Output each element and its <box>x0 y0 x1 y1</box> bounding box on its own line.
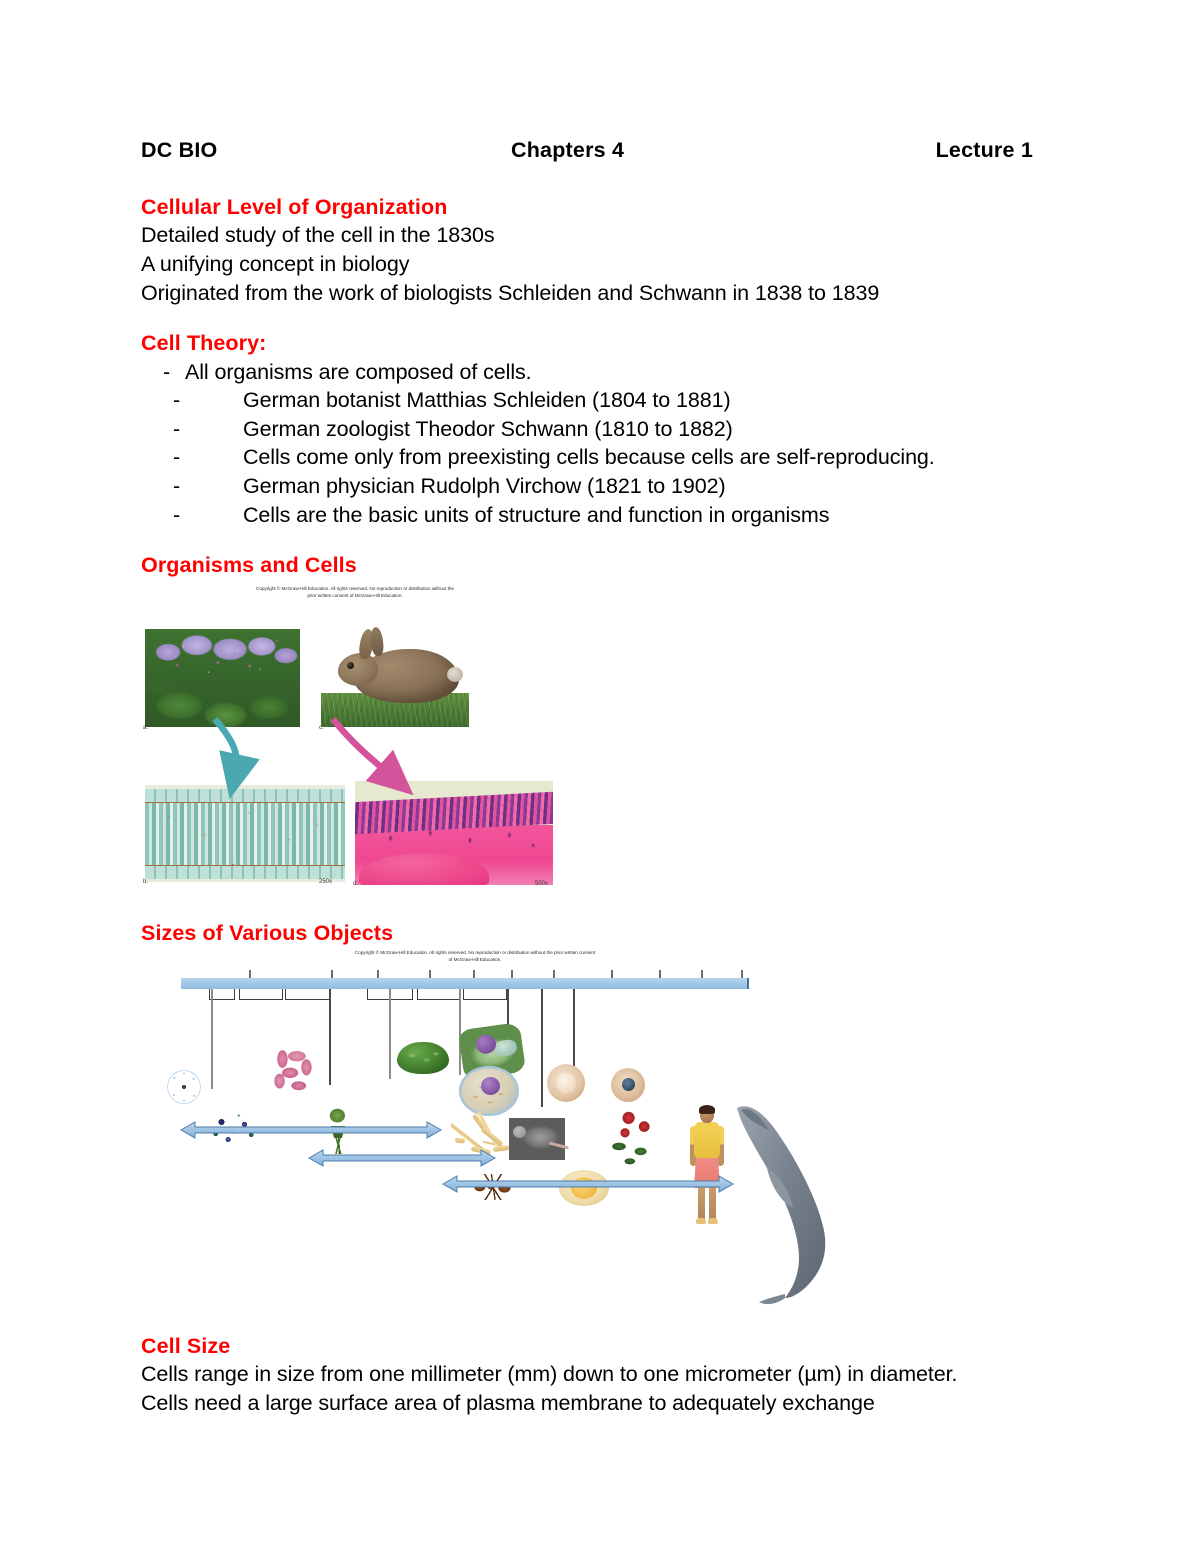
heading-sizes-of-various-objects: Sizes of Various Objects <box>141 919 1061 947</box>
human-hair <box>699 1105 715 1114</box>
human-shoe-right <box>708 1218 718 1224</box>
plant-palisade-layer <box>145 791 345 875</box>
bullet-text: German zoologist Theodor Schwann (1810 t… <box>243 415 733 444</box>
spacer <box>141 889 1061 919</box>
figure-label-plant-magnification: 250x <box>319 879 332 885</box>
figure-label-animal-magnification: 500x <box>535 881 548 887</box>
bullet-text: German physician Rudolph Virchow (1821 t… <box>243 472 726 501</box>
list-item: - Cells come only from preexisting cells… <box>141 443 1061 472</box>
figure-label-plant-tissue: b. <box>143 879 148 885</box>
copyright-notice: Copyright © McGraw-Hill Education. All r… <box>253 586 457 599</box>
arrow-plant-to-tissue <box>215 719 237 775</box>
arrow-rabbit-to-tissue <box>333 719 395 779</box>
heading-organisms-and-cells: Organisms and Cells <box>141 551 1061 579</box>
bullet-text: Cells come only from preexisting cells b… <box>243 443 935 472</box>
plant-tissue-micrograph <box>145 785 345 882</box>
figure-label-lilac: a. <box>143 725 148 731</box>
range-arrow-2 <box>309 1150 495 1166</box>
chloroplast-icon <box>397 1042 449 1074</box>
rabbit-photo <box>321 623 469 727</box>
range-arrow-1 <box>181 1122 441 1138</box>
cell-size-line-1: Cells range in size from one millimeter … <box>141 1360 1061 1389</box>
bullet-dash: - <box>141 501 243 530</box>
list-item: - German botanist Matthias Schleiden (18… <box>141 386 1061 415</box>
plant-upper-epidermis <box>145 789 345 803</box>
document-content: DC BIO Chapters 4 Lecture 1 Cellular Lev… <box>141 0 1061 1417</box>
copyright-notice: Copyright © McGraw-Hill Education. All r… <box>355 950 596 963</box>
spacer <box>141 529 1061 551</box>
spacer <box>141 307 1061 329</box>
bullet-dash: - <box>141 415 243 444</box>
document-page: DC BIO Chapters 4 Lecture 1 Cellular Lev… <box>0 0 1200 1553</box>
header-chapter: Chapters 4 <box>511 138 811 163</box>
spacer <box>141 163 1061 193</box>
egg-cell-icon <box>547 1064 585 1102</box>
frog-egg-icon <box>611 1068 645 1102</box>
document-header: DC BIO Chapters 4 Lecture 1 <box>141 0 1061 163</box>
cell-size-line-2: Cells need a large surface area of plasm… <box>141 1389 1061 1418</box>
plant-lower-epidermis <box>145 865 345 879</box>
animal-tissue-micrograph <box>355 781 553 885</box>
bullet-dash: - <box>141 358 185 387</box>
range-arrow-3 <box>443 1176 733 1192</box>
header-lecture: Lecture 1 <box>811 138 1061 163</box>
list-item: - Cells are the basic units of structure… <box>141 501 1061 530</box>
cellular-level-line-2: A unifying concept in biology <box>141 250 1061 279</box>
figure-organisms-and-cells: Copyright © McGraw-Hill Education. All r… <box>143 579 593 889</box>
header-course: DC BIO <box>141 138 511 163</box>
bullet-dash: - <box>141 472 243 501</box>
rabbit-ear-right <box>370 627 385 657</box>
figure-label-rabbit: c. <box>319 725 324 731</box>
cellular-level-line-3: Originated from the work of biologists S… <box>141 279 1061 308</box>
figure-label-animal-tissue: d. <box>353 881 358 887</box>
bullet-text: German botanist Matthias Schleiden (1804… <box>243 386 731 415</box>
list-item: - German physician Rudolph Virchow (1821… <box>141 472 1061 501</box>
atom-icon <box>167 1070 201 1104</box>
cellular-level-line-1: Detailed study of the cell in the 1830s <box>141 221 1061 250</box>
scale-bar <box>181 978 749 989</box>
heading-cell-size: Cell Size <box>141 1332 1061 1360</box>
whale-tail-fluke <box>759 1294 785 1304</box>
bullet-dash: - <box>141 386 243 415</box>
list-item: - German zoologist Theodor Schwann (1810… <box>141 415 1061 444</box>
heading-cell-theory: Cell Theory: <box>141 329 1061 357</box>
cell-theory-list: - All organisms are composed of cells. -… <box>141 358 1061 530</box>
bullet-text: Cells are the basic units of structure a… <box>243 501 829 530</box>
figure-sizes-of-various-objects: Copyright © McGraw-Hill Education. All r… <box>159 948 859 1318</box>
lilac-plant-photo <box>145 629 300 727</box>
protein-icon <box>269 1048 317 1094</box>
bullet-text: All organisms are composed of cells. <box>185 358 532 387</box>
human-shoe-left <box>696 1218 706 1224</box>
animal-cell-nuclei <box>355 781 553 885</box>
list-item: - All organisms are composed of cells. <box>141 358 1061 387</box>
lilac-highlights <box>145 629 300 727</box>
bullet-dash: - <box>141 443 243 472</box>
rabbit-tail <box>447 667 463 682</box>
cell-size-block: Cell Size Cells range in size from one m… <box>141 1318 1061 1418</box>
heading-cellular-level: Cellular Level of Organization <box>141 193 1061 221</box>
measurement-range-arrows <box>159 1116 859 1216</box>
